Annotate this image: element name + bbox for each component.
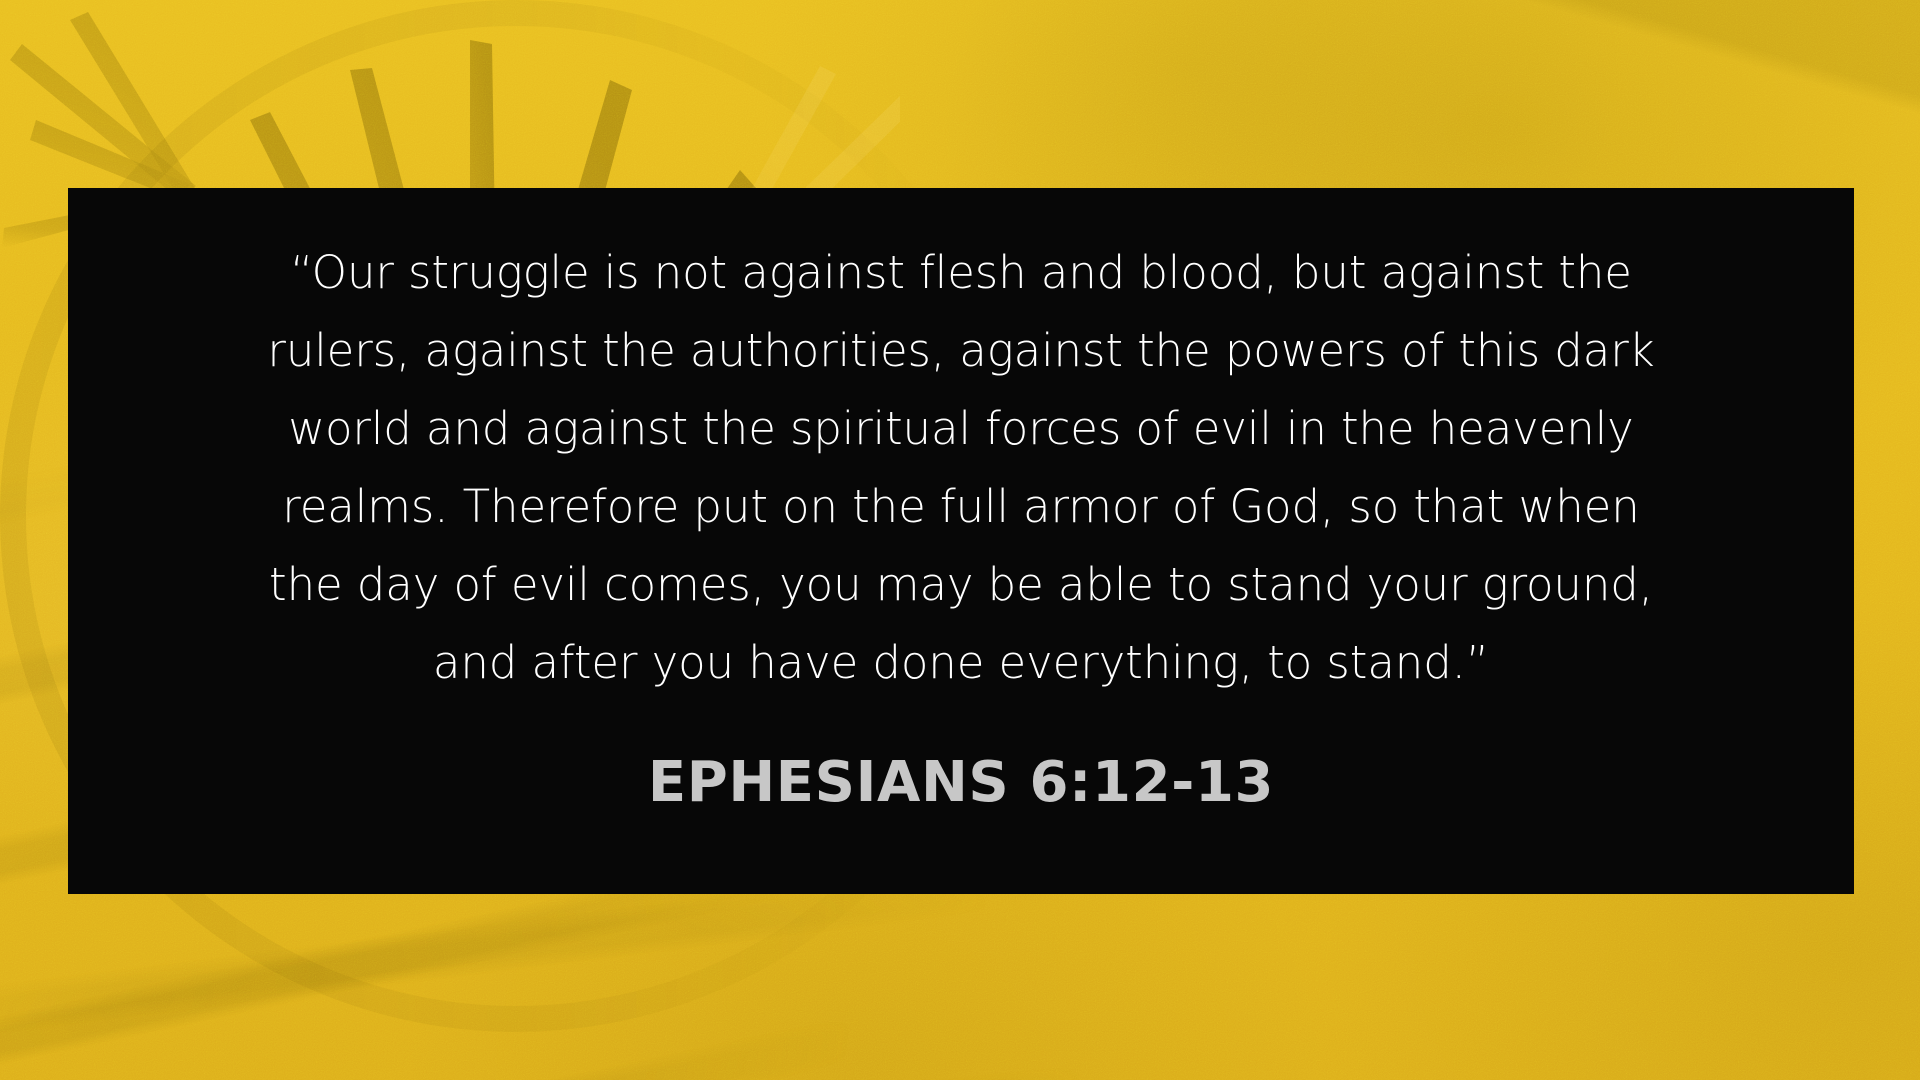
verse-quote-text: “Our struggle is not against flesh and b… — [267, 234, 1654, 702]
verse-reference-label: EPHESIANS 6:12-13 — [648, 750, 1274, 815]
verse-card: “Our struggle is not against flesh and b… — [68, 188, 1854, 894]
slide-canvas: “Our struggle is not against flesh and b… — [0, 0, 1920, 1080]
